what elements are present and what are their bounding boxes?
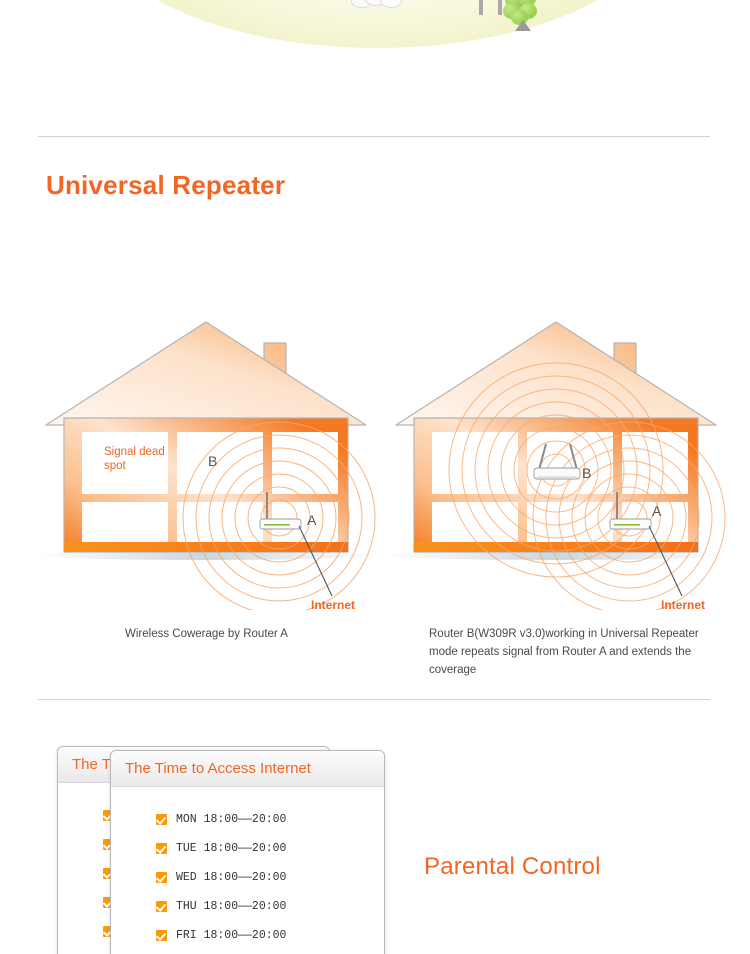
schedule-time-label: WED 18:00——20:00 (176, 871, 286, 884)
label-internet: Internet (661, 598, 705, 612)
schedule-checkbox[interactable] (156, 872, 167, 883)
divider-bottom (38, 699, 710, 700)
page-title-parental-control: Parental Control (424, 853, 601, 881)
caption-left-diagram: Wireless Cowerage by Router A (125, 625, 375, 643)
schedule-row[interactable]: WED 18:00——20:00 (111, 863, 384, 892)
schedule-time-label: TUE 18:00——20:00 (176, 842, 286, 855)
label-room-b: B (208, 453, 217, 469)
label-router-a: A (307, 512, 316, 528)
house-right-graphic (386, 310, 726, 610)
cloud-icon (351, 0, 403, 8)
schedule-row[interactable]: THU 18:00——20:00 (111, 892, 384, 921)
page-root: Universal Repeater (0, 0, 750, 954)
schedule-row[interactable]: TUE 18:00——20:00 (111, 834, 384, 863)
parental-panel-front: The Time to Access Internet MON 18:00——2… (110, 750, 385, 954)
caption-right-diagram: Router B(W309R v3.0)working in Universal… (429, 625, 714, 679)
label-signal-dead-spot: Signal dead spot (104, 445, 165, 473)
page-title-universal-repeater: Universal Repeater (46, 170, 285, 201)
schedule-row[interactable]: MON 18:00——20:00 (111, 805, 384, 834)
parental-panel-front-header: The Time to Access Internet (111, 751, 384, 787)
label-router-a: A (652, 503, 661, 519)
diagram-house-with-repeater: B A Internet (386, 310, 726, 610)
schedule-checkbox[interactable] (156, 901, 167, 912)
schedule-time-label: FRI 18:00——20:00 (176, 929, 286, 942)
parental-control-section: The Time to Access Internet MON 18:00——2… (0, 740, 750, 954)
label-router-b: B (582, 465, 591, 481)
schedule-row[interactable]: FRI 18:00——20:00 (111, 921, 384, 950)
divider-top (38, 136, 710, 137)
schedule-time-label: THU 18:00——20:00 (176, 900, 286, 913)
diagram-house-without-repeater: Signal dead spot B A Internet (36, 310, 376, 610)
house-left-graphic (36, 310, 376, 610)
schedule-checkbox[interactable] (156, 930, 167, 941)
parental-panel-front-title: The Time to Access Internet (125, 760, 311, 777)
label-internet: Internet (311, 598, 355, 612)
schedule-checkbox[interactable] (156, 843, 167, 854)
schedule-time-label: MON 18:00——20:00 (176, 813, 286, 826)
schedule-checkbox[interactable] (156, 814, 167, 825)
tree-icon (503, 0, 539, 32)
scenery-illustration (0, 0, 750, 52)
parental-panel-front-rows: MON 18:00——20:00 TUE 18:00——20:00 WED 18… (111, 787, 384, 950)
